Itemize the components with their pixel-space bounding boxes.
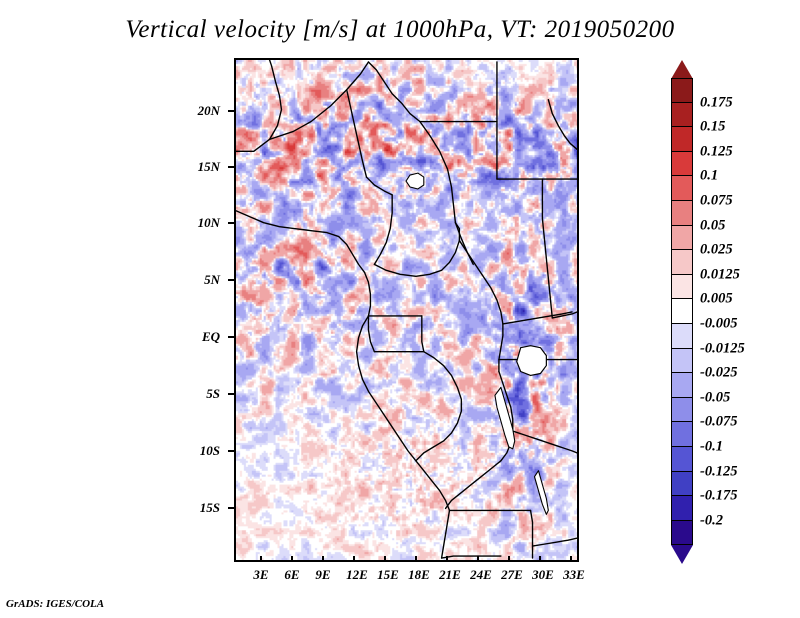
x-tick-label-27e: 27E bbox=[501, 567, 523, 583]
y-tick-mark-eq bbox=[228, 336, 234, 338]
colorbar-segment bbox=[671, 226, 693, 251]
x-tick-label-30e: 30E bbox=[532, 567, 554, 583]
colorbar-tick-label: 0.1 bbox=[700, 168, 718, 185]
colorbar-tick-label: -0.1 bbox=[700, 439, 723, 456]
x-tick-label-33e: 33E bbox=[563, 567, 585, 583]
x-tick-mark-18e bbox=[415, 556, 417, 562]
colorbar-segment bbox=[671, 324, 693, 349]
colorbar-tick-label: 0.025 bbox=[700, 242, 733, 259]
colorbar-segment bbox=[671, 78, 693, 103]
y-tick-label-10n: 10N bbox=[180, 215, 220, 231]
x-tick-label-3e: 3E bbox=[253, 567, 268, 583]
x-tick-label-15e: 15E bbox=[377, 567, 399, 583]
colorbar-tick-label: -0.175 bbox=[700, 488, 737, 505]
colorbar-tick-label: -0.0125 bbox=[700, 340, 745, 357]
y-tick-mark-5n bbox=[228, 279, 234, 281]
colorbar-segment bbox=[671, 250, 693, 275]
colorbar-tick-label: -0.125 bbox=[700, 463, 737, 480]
colorbar-tick-label: -0.2 bbox=[700, 512, 723, 529]
y-tick-label-10s: 10S bbox=[180, 443, 220, 459]
colorbar-segment bbox=[671, 275, 693, 300]
colorbar-tick-label: -0.05 bbox=[700, 389, 730, 406]
footer-credit: GrADS: IGES/COLA bbox=[6, 598, 104, 610]
colorbar-segment bbox=[671, 176, 693, 201]
colorbar-segment bbox=[671, 127, 693, 152]
colorbar-segment bbox=[671, 103, 693, 128]
x-tick-mark-12e bbox=[353, 556, 355, 562]
y-tick-mark-15s bbox=[228, 507, 234, 509]
national-boundaries bbox=[236, 60, 577, 558]
colorbar-tick-label: 0.075 bbox=[700, 193, 733, 210]
y-tick-label-5s: 5S bbox=[180, 386, 220, 402]
x-tick-mark-6e bbox=[291, 556, 293, 562]
y-tick-mark-10n bbox=[228, 222, 234, 224]
x-tick-mark-30e bbox=[539, 556, 541, 562]
colorbar-tick-label: 0.175 bbox=[700, 94, 733, 111]
colorbar-tick-label: 0.005 bbox=[700, 291, 733, 308]
colorbar-min-extend-arrow-icon bbox=[671, 545, 693, 564]
y-tick-label-20n: 20N bbox=[180, 103, 220, 119]
colorbar-tick-label: -0.075 bbox=[700, 414, 737, 431]
x-tick-mark-9e bbox=[322, 556, 324, 562]
colorbar-segment bbox=[671, 349, 693, 374]
y-tick-mark-5s bbox=[228, 393, 234, 395]
colorbar-tick-label: 0.05 bbox=[700, 217, 725, 234]
y-tick-mark-20n bbox=[228, 110, 234, 112]
colorbar-segment bbox=[671, 447, 693, 472]
x-tick-label-6e: 6E bbox=[284, 567, 299, 583]
colorbar-segment bbox=[671, 521, 693, 546]
y-tick-mark-15n bbox=[228, 166, 234, 168]
country-borders-overlay bbox=[236, 60, 577, 560]
x-tick-mark-24e bbox=[477, 556, 479, 562]
colorbar-segment bbox=[671, 373, 693, 398]
x-tick-label-21e: 21E bbox=[439, 567, 461, 583]
page-title: Vertical velocity [m/s] at 1000hPa, VT: … bbox=[0, 16, 800, 44]
colorbar-tick-label: -0.005 bbox=[700, 316, 737, 333]
colorbar-segment bbox=[671, 299, 693, 324]
x-tick-mark-21e bbox=[446, 556, 448, 562]
colorbar-segment bbox=[671, 152, 693, 177]
x-tick-label-24e: 24E bbox=[470, 567, 492, 583]
x-tick-mark-15e bbox=[384, 556, 386, 562]
y-tick-label-15n: 15N bbox=[180, 159, 220, 175]
y-tick-label-5n: 5N bbox=[180, 272, 220, 288]
colorbar-segment bbox=[671, 201, 693, 226]
x-tick-mark-27e bbox=[508, 556, 510, 562]
colorbar bbox=[671, 78, 693, 545]
x-tick-mark-3e bbox=[260, 556, 262, 562]
x-tick-label-12e: 12E bbox=[346, 567, 368, 583]
colorbar-segment bbox=[671, 472, 693, 497]
x-tick-label-18e: 18E bbox=[408, 567, 430, 583]
y-tick-label-15s: 15S bbox=[180, 500, 220, 516]
colorbar-tick-label: 0.15 bbox=[700, 119, 725, 136]
x-tick-mark-33e bbox=[570, 556, 572, 562]
colorbar-tick-label: 0.125 bbox=[700, 143, 733, 160]
colorbar-segment bbox=[671, 496, 693, 521]
y-tick-label-eq: EQ bbox=[180, 329, 220, 345]
x-tick-label-9e: 9E bbox=[315, 567, 330, 583]
colorbar-segment bbox=[671, 422, 693, 447]
colorbar-tick-label: -0.025 bbox=[700, 365, 737, 382]
colorbar-max-extend-arrow-icon bbox=[671, 60, 693, 79]
colorbar-segment bbox=[671, 398, 693, 423]
colorbar-tick-label: 0.0125 bbox=[700, 266, 740, 283]
y-tick-mark-10s bbox=[228, 450, 234, 452]
map-plot-area bbox=[234, 58, 579, 562]
